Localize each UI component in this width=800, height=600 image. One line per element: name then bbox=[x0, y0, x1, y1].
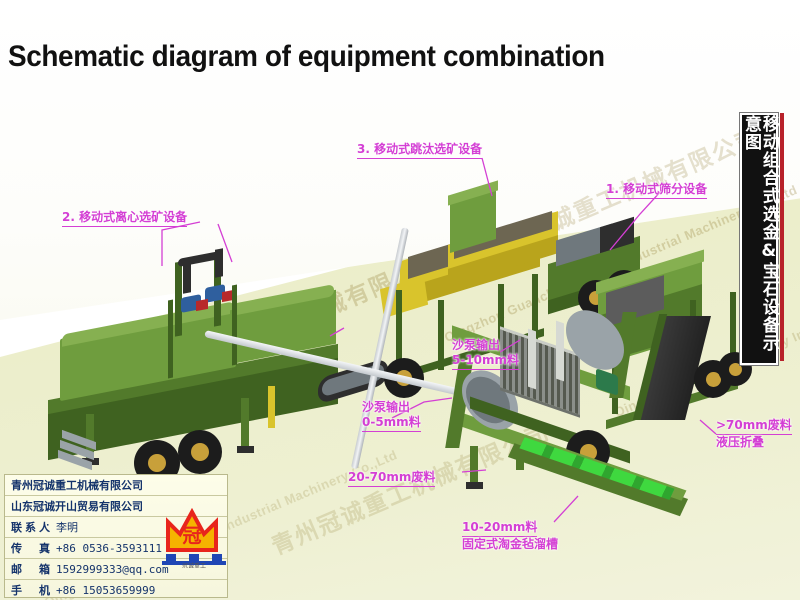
contact-company-1: 青州冠诚重工机械有限公司 bbox=[5, 475, 227, 496]
callout-item-3: 3. 移动式跳汰选矿设备 bbox=[357, 142, 482, 159]
diagram-canvas: 青州冠诚重工机械有限公司 Qingzhou Guancheng Heavy In… bbox=[0, 0, 800, 600]
contact-mobile-row: 手 机 ：+86 15053659999 bbox=[5, 580, 227, 600]
banner-red-edge bbox=[780, 113, 784, 361]
vertical-banner-text: 移动组合式选金&宝石设备示意图 bbox=[741, 115, 777, 363]
company-logo: 冠 冠诚重工 bbox=[158, 506, 230, 568]
callout-waste-20-70: 20-70mm废料 bbox=[348, 470, 435, 487]
callout-sluice-10-20: 10-20mm料 固定式淘金毡溜槽 bbox=[462, 520, 558, 552]
vertical-banner: 移动组合式选金&宝石设备示意图 bbox=[740, 113, 778, 365]
callout-pump-out-0-5: 沙泵输出 0-5mm料 bbox=[362, 400, 421, 432]
callout-pump-out-5-10: 沙泵输出 5-10mm料 bbox=[452, 338, 519, 370]
callout-item-2: 2. 移动式离心选矿设备 bbox=[62, 210, 187, 227]
callout-waste-over-70: >70mm废料 液压折叠 bbox=[716, 418, 792, 450]
logo-caption: 冠诚重工 bbox=[182, 562, 206, 568]
page-title: Schematic diagram of equipment combinati… bbox=[8, 40, 605, 74]
callout-item-1: 1. 移动式筛分设备 bbox=[606, 182, 707, 199]
svg-text:冠: 冠 bbox=[182, 525, 201, 547]
